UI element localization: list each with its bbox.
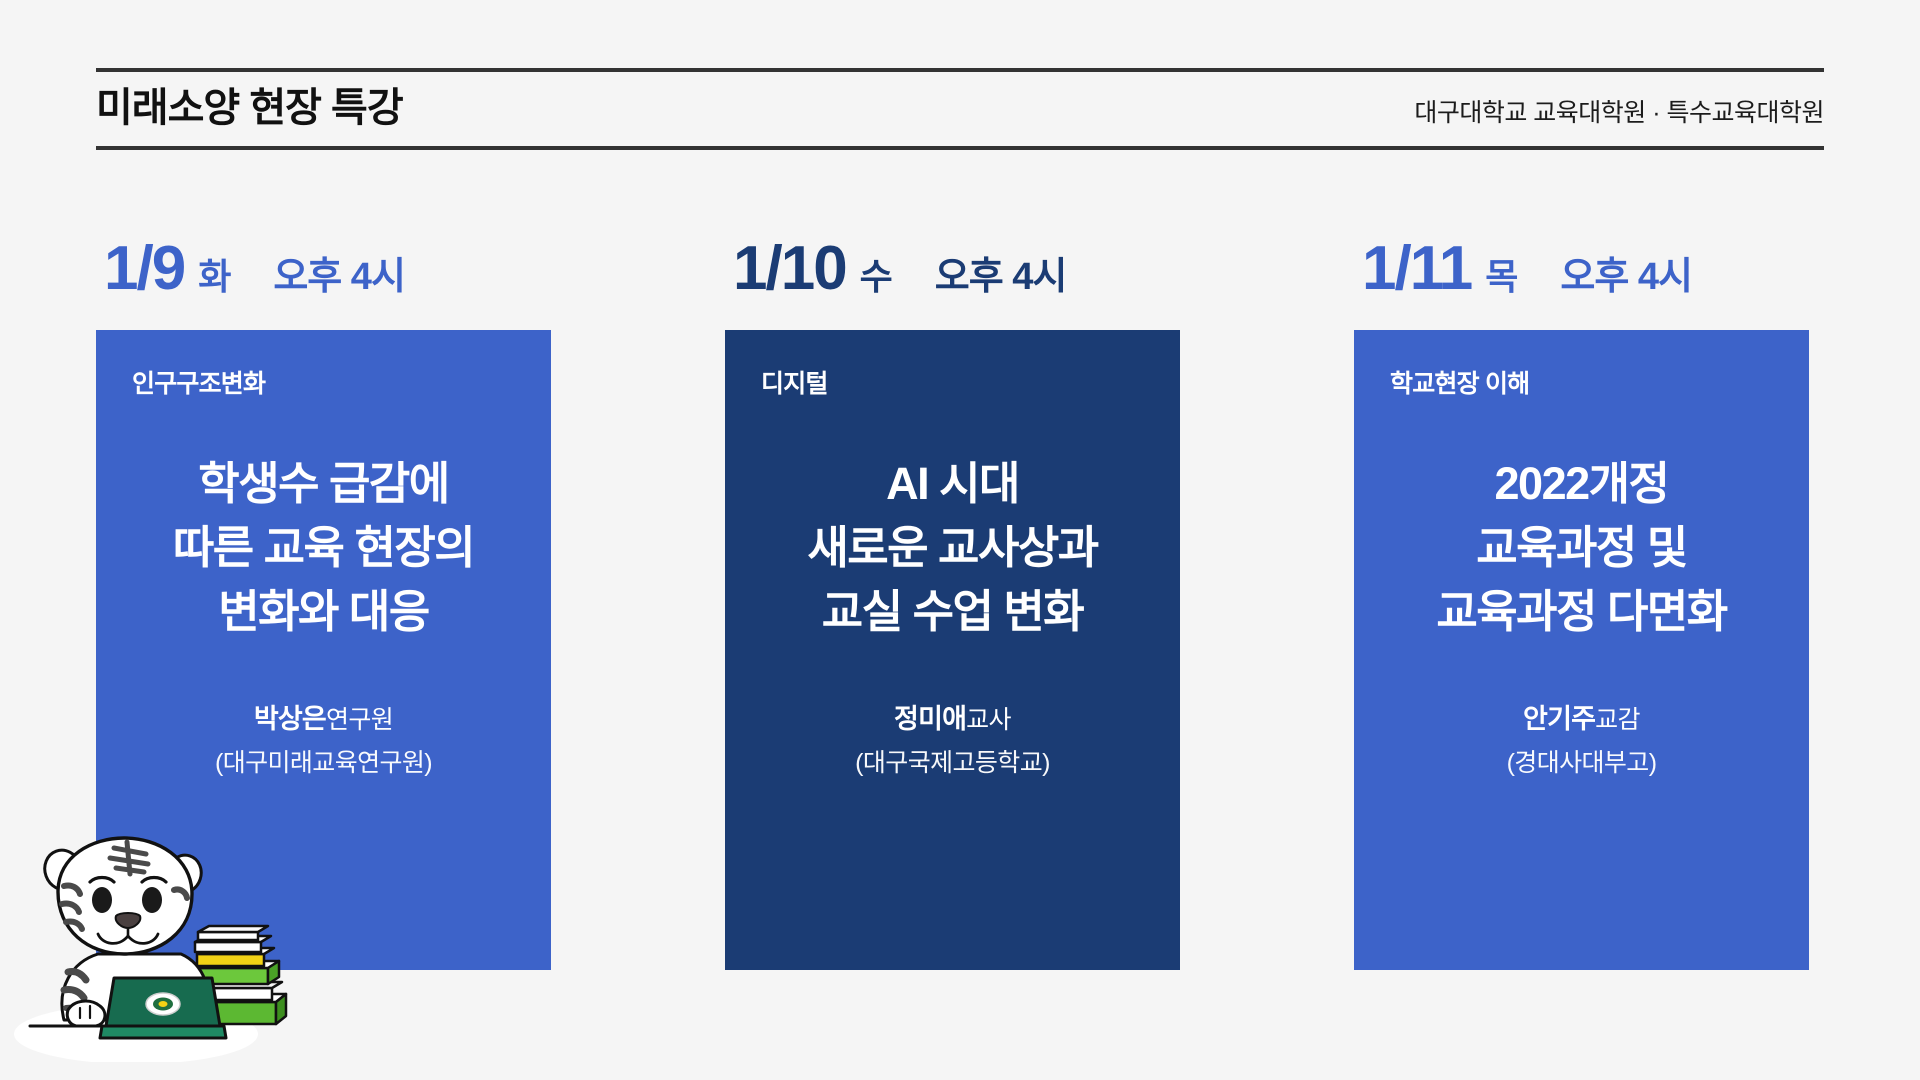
- session-date-line-2: 1/10 수 오후 4시: [725, 238, 1066, 330]
- session-time-1: 오후 4시: [273, 258, 405, 296]
- session-speaker-1: 박상은연구원 (대구미래교육연구원): [126, 700, 521, 781]
- session-column-2: 1/10 수 오후 4시 디지털 AI 시대 새로운 교사상과 교실 수업 변화…: [725, 238, 1195, 970]
- session-time-2: 오후 4시: [935, 258, 1067, 296]
- session-date-line-3: 1/11 목 오후 4시: [1354, 238, 1692, 330]
- speaker-org: (대구미래교육연구원): [126, 745, 521, 781]
- session-column-3: 1/11 목 오후 4시 학교현장 이해 2022개정 교육과정 및 교육과정 …: [1354, 238, 1824, 970]
- speaker-org: (대구국제고등학교): [755, 745, 1150, 781]
- session-title-line: 학생수 급감에: [126, 452, 521, 516]
- session-title-line: 교육과정 다면화: [1384, 580, 1779, 644]
- session-title-1: 학생수 급감에 따른 교육 현장의 변화와 대응: [126, 452, 521, 644]
- session-card-list: 1/9 화 오후 4시 인구구조변화 학생수 급감에 따른 교육 현장의 변화와…: [96, 238, 1824, 970]
- session-weekday-3: 목: [1485, 259, 1518, 295]
- header-rule-bottom: [96, 146, 1824, 150]
- poster-header: 미래소양 현장 특강 대구대학교 교육대학원 · 특수교육대학원: [96, 68, 1824, 150]
- header-organization: 대구대학교 교육대학원 · 특수교육대학원: [1414, 93, 1824, 129]
- session-tag-2: 디지털: [761, 364, 1150, 400]
- session-title-line: 변화와 대응: [126, 580, 521, 644]
- session-speaker-2: 정미애교사 (대구국제고등학교): [755, 700, 1150, 781]
- speaker-name: 정미애: [894, 704, 966, 734]
- speaker-role: 연구원: [326, 706, 393, 734]
- session-title-line: 2022개정: [1384, 452, 1779, 516]
- session-tag-3: 학교현장 이해: [1390, 364, 1779, 400]
- session-title-line: AI 시대: [755, 452, 1150, 516]
- speaker-role: 교사: [966, 706, 1011, 734]
- speaker-name: 안기주: [1523, 704, 1595, 734]
- session-weekday-2: 수: [860, 259, 893, 295]
- session-title-line: 교육과정 및: [1384, 516, 1779, 580]
- session-card-3[interactable]: 학교현장 이해 2022개정 교육과정 및 교육과정 다면화 안기주교감 (경대…: [1354, 330, 1809, 970]
- session-time-3: 오후 4시: [1560, 258, 1692, 296]
- white-tiger-mascot-icon: [6, 812, 306, 1062]
- session-date-3: 1/11: [1362, 238, 1471, 300]
- session-title-2: AI 시대 새로운 교사상과 교실 수업 변화: [755, 452, 1150, 644]
- session-speaker-3: 안기주교감 (경대사대부고): [1384, 700, 1779, 781]
- session-title-line: 따른 교육 현장의: [126, 516, 521, 580]
- session-title-line: 새로운 교사상과: [755, 516, 1150, 580]
- header-row: 미래소양 현장 특강 대구대학교 교육대학원 · 특수교육대학원: [96, 72, 1824, 146]
- session-date-1: 1/9: [104, 238, 184, 300]
- speaker-role: 교감: [1595, 706, 1640, 734]
- page-title: 미래소양 현장 특강: [96, 86, 403, 130]
- speaker-org: (경대사대부고): [1384, 745, 1779, 781]
- session-title-line: 교실 수업 변화: [755, 580, 1150, 644]
- session-weekday-1: 화: [198, 259, 231, 295]
- poster-canvas: 미래소양 현장 특강 대구대학교 교육대학원 · 특수교육대학원 1/9 화 오…: [0, 0, 1920, 1080]
- session-date-2: 1/10: [733, 238, 846, 300]
- session-tag-1: 인구구조변화: [132, 364, 521, 400]
- speaker-name: 박상은: [254, 704, 326, 734]
- session-card-2[interactable]: 디지털 AI 시대 새로운 교사상과 교실 수업 변화 정미애교사 (대구국제고…: [725, 330, 1180, 970]
- session-date-line-1: 1/9 화 오후 4시: [96, 238, 405, 330]
- session-title-3: 2022개정 교육과정 및 교육과정 다면화: [1384, 452, 1779, 644]
